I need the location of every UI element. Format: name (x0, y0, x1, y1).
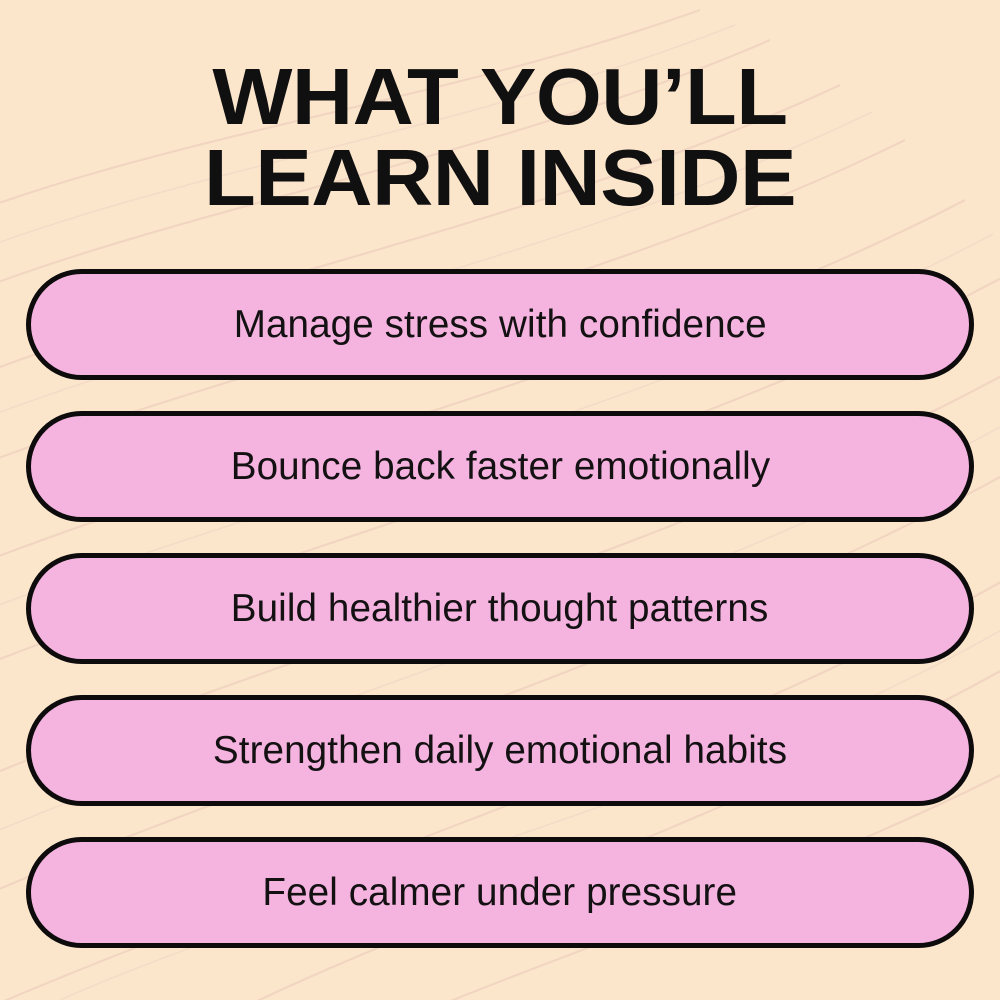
benefit-list: Manage stress with confidence Bounce bac… (26, 269, 974, 948)
benefit-label: Build healthier thought patterns (231, 589, 769, 628)
page-title: WHAT YOU’LL LEARN INSIDE (0, 56, 1000, 218)
title-line-2: LEARN INSIDE (0, 137, 1000, 218)
list-item[interactable]: Feel calmer under pressure (26, 837, 974, 948)
benefit-label: Feel calmer under pressure (263, 873, 738, 912)
list-item[interactable]: Bounce back faster emotionally (26, 411, 974, 522)
benefit-label: Manage stress with confidence (234, 305, 767, 344)
list-item[interactable]: Manage stress with confidence (26, 269, 974, 380)
title-line-1: WHAT YOU’LL (0, 56, 1000, 137)
poster-canvas: WHAT YOU’LL LEARN INSIDE Manage stress w… (0, 0, 1000, 1000)
list-item[interactable]: Build healthier thought patterns (26, 553, 974, 664)
list-item[interactable]: Strengthen daily emotional habits (26, 695, 974, 806)
benefit-label: Strengthen daily emotional habits (213, 731, 787, 770)
benefit-label: Bounce back faster emotionally (230, 447, 770, 486)
